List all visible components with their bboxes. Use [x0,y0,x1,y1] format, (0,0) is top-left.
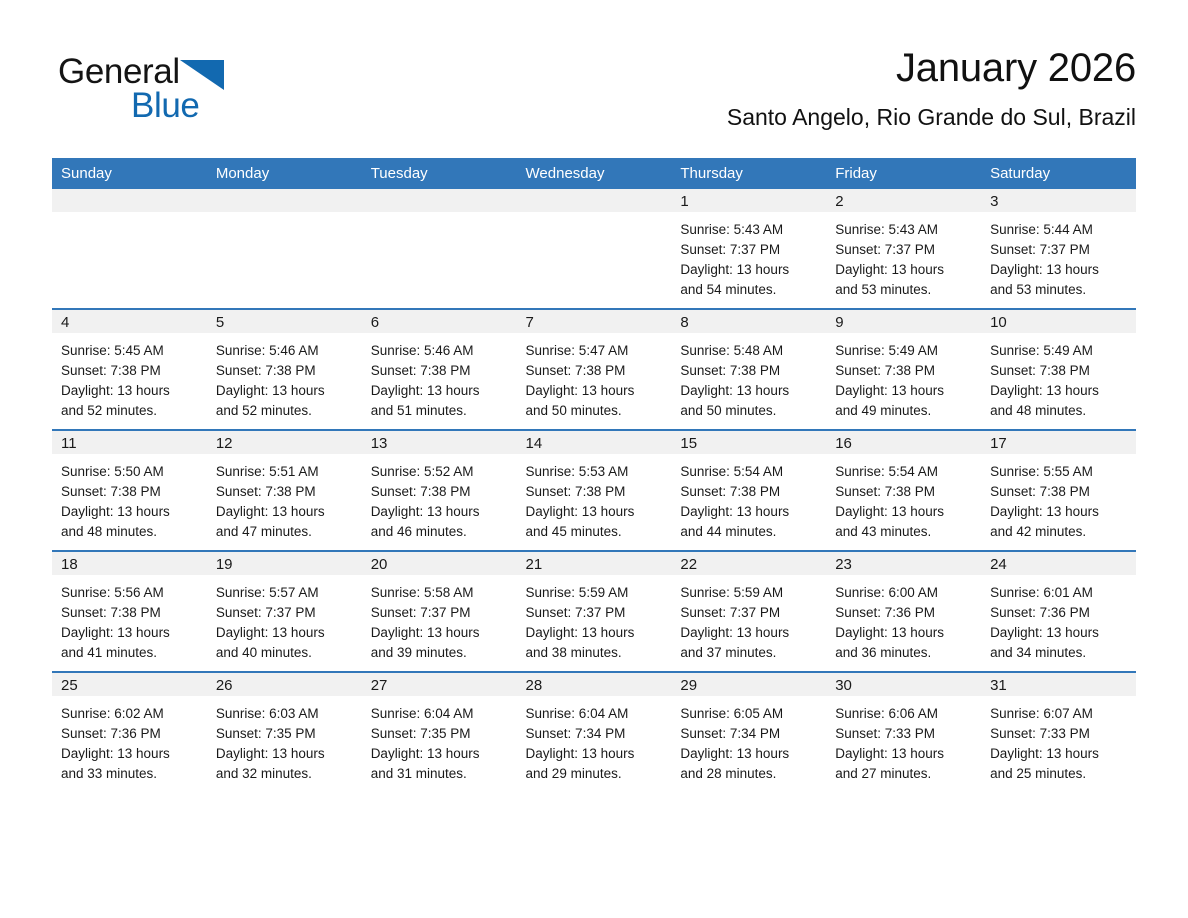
calendar-table: SundayMondayTuesdayWednesdayThursdayFrid… [52,158,1136,792]
daylight-text-line1: Daylight: 13 hours [371,502,511,522]
daylight-text-line2: and 47 minutes. [216,522,356,542]
calendar-day-cell[interactable]: 17Sunrise: 5:55 AMSunset: 7:38 PMDayligh… [981,430,1136,551]
sunrise-text: Sunrise: 6:04 AM [371,704,511,724]
calendar-day-cell[interactable]: 26Sunrise: 6:03 AMSunset: 7:35 PMDayligh… [207,672,362,792]
brand-logo[interactable]: General Blue [58,52,358,136]
sunset-text: Sunset: 7:38 PM [835,482,975,502]
day-details: Sunrise: 5:47 AMSunset: 7:38 PMDaylight:… [517,333,672,421]
sunset-text: Sunset: 7:37 PM [216,603,356,623]
sunset-text: Sunset: 7:36 PM [990,603,1130,623]
day-number: 21 [517,552,672,575]
weekday-header-row: SundayMondayTuesdayWednesdayThursdayFrid… [52,158,1136,189]
weekday-header-tuesday: Tuesday [362,158,517,189]
sunrise-text: Sunrise: 5:51 AM [216,462,356,482]
sunset-text: Sunset: 7:38 PM [371,361,511,381]
calendar-day-cell[interactable]: 16Sunrise: 5:54 AMSunset: 7:38 PMDayligh… [826,430,981,551]
day-number: 30 [826,673,981,696]
calendar-day-cell[interactable]: 27Sunrise: 6:04 AMSunset: 7:35 PMDayligh… [362,672,517,792]
day-number: 15 [671,431,826,454]
calendar-day-cell-empty [362,189,517,309]
sunset-text: Sunset: 7:38 PM [61,482,201,502]
daylight-text-line1: Daylight: 13 hours [680,623,820,643]
sunrise-text: Sunrise: 6:01 AM [990,583,1130,603]
day-details: Sunrise: 6:05 AMSunset: 7:34 PMDaylight:… [671,696,826,784]
daylight-text-line2: and 48 minutes. [61,522,201,542]
day-details: Sunrise: 5:58 AMSunset: 7:37 PMDaylight:… [362,575,517,663]
sunrise-text: Sunrise: 5:54 AM [680,462,820,482]
sunset-text: Sunset: 7:38 PM [990,361,1130,381]
sunset-text: Sunset: 7:35 PM [371,724,511,744]
sunrise-text: Sunrise: 5:53 AM [526,462,666,482]
day-number: 25 [52,673,207,696]
calendar-day-cell[interactable]: 9Sunrise: 5:49 AMSunset: 7:38 PMDaylight… [826,309,981,430]
daylight-text-line2: and 38 minutes. [526,643,666,663]
daylight-text-line2: and 29 minutes. [526,764,666,784]
calendar-day-cell[interactable]: 3Sunrise: 5:44 AMSunset: 7:37 PMDaylight… [981,189,1136,309]
sunrise-text: Sunrise: 5:43 AM [680,220,820,240]
day-details: Sunrise: 6:00 AMSunset: 7:36 PMDaylight:… [826,575,981,663]
calendar-day-cell[interactable]: 31Sunrise: 6:07 AMSunset: 7:33 PMDayligh… [981,672,1136,792]
calendar-day-cell[interactable]: 25Sunrise: 6:02 AMSunset: 7:36 PMDayligh… [52,672,207,792]
sunset-text: Sunset: 7:38 PM [526,482,666,502]
calendar-day-cell[interactable]: 24Sunrise: 6:01 AMSunset: 7:36 PMDayligh… [981,551,1136,672]
day-details: Sunrise: 5:48 AMSunset: 7:38 PMDaylight:… [671,333,826,421]
day-number: 12 [207,431,362,454]
calendar-day-cell[interactable]: 29Sunrise: 6:05 AMSunset: 7:34 PMDayligh… [671,672,826,792]
sunset-text: Sunset: 7:38 PM [216,482,356,502]
daylight-text-line1: Daylight: 13 hours [61,623,201,643]
sunset-text: Sunset: 7:36 PM [61,724,201,744]
daylight-text-line2: and 53 minutes. [990,280,1130,300]
day-number [517,189,672,212]
sunset-text: Sunset: 7:35 PM [216,724,356,744]
day-details: Sunrise: 5:50 AMSunset: 7:38 PMDaylight:… [52,454,207,542]
sunset-text: Sunset: 7:38 PM [216,361,356,381]
brand-row-blue: Blue [131,86,358,126]
daylight-text-line1: Daylight: 13 hours [371,744,511,764]
daylight-text-line2: and 27 minutes. [835,764,975,784]
calendar-day-cell[interactable]: 2Sunrise: 5:43 AMSunset: 7:37 PMDaylight… [826,189,981,309]
sunrise-text: Sunrise: 5:43 AM [835,220,975,240]
daylight-text-line1: Daylight: 13 hours [61,744,201,764]
calendar-body: 1Sunrise: 5:43 AMSunset: 7:37 PMDaylight… [52,189,1136,792]
day-number: 6 [362,310,517,333]
sunrise-text: Sunrise: 6:06 AM [835,704,975,724]
calendar-day-cell[interactable]: 7Sunrise: 5:47 AMSunset: 7:38 PMDaylight… [517,309,672,430]
sunset-text: Sunset: 7:37 PM [835,240,975,260]
sunset-text: Sunset: 7:38 PM [526,361,666,381]
sunset-text: Sunset: 7:37 PM [990,240,1130,260]
daylight-text-line2: and 33 minutes. [61,764,201,784]
daylight-text-line2: and 54 minutes. [680,280,820,300]
daylight-text-line1: Daylight: 13 hours [526,623,666,643]
page-header: General Blue January 2026 Santo Angelo, … [52,42,1136,152]
daylight-text-line1: Daylight: 13 hours [835,260,975,280]
daylight-text-line1: Daylight: 13 hours [990,744,1130,764]
calendar-day-cell[interactable]: 11Sunrise: 5:50 AMSunset: 7:38 PMDayligh… [52,430,207,551]
title-block: January 2026 Santo Angelo, Rio Grande do… [727,42,1136,132]
day-details: Sunrise: 5:59 AMSunset: 7:37 PMDaylight:… [671,575,826,663]
sunrise-text: Sunrise: 5:55 AM [990,462,1130,482]
day-details: Sunrise: 6:04 AMSunset: 7:35 PMDaylight:… [362,696,517,784]
daylight-text-line2: and 39 minutes. [371,643,511,663]
calendar-day-cell[interactable]: 19Sunrise: 5:57 AMSunset: 7:37 PMDayligh… [207,551,362,672]
sunrise-text: Sunrise: 6:07 AM [990,704,1130,724]
calendar-day-cell[interactable]: 13Sunrise: 5:52 AMSunset: 7:38 PMDayligh… [362,430,517,551]
calendar-page: General Blue January 2026 Santo Angelo, … [0,0,1188,918]
weekday-header-thursday: Thursday [671,158,826,189]
calendar-day-cell[interactable]: 5Sunrise: 5:46 AMSunset: 7:38 PMDaylight… [207,309,362,430]
sunrise-text: Sunrise: 6:05 AM [680,704,820,724]
daylight-text-line1: Daylight: 13 hours [216,623,356,643]
sunrise-text: Sunrise: 6:02 AM [61,704,201,724]
daylight-text-line1: Daylight: 13 hours [526,502,666,522]
day-details: Sunrise: 5:55 AMSunset: 7:38 PMDaylight:… [981,454,1136,542]
daylight-text-line1: Daylight: 13 hours [61,381,201,401]
day-number: 31 [981,673,1136,696]
daylight-text-line2: and 50 minutes. [526,401,666,421]
sunrise-text: Sunrise: 5:58 AM [371,583,511,603]
daylight-text-line2: and 48 minutes. [990,401,1130,421]
weekday-header-friday: Friday [826,158,981,189]
day-number: 8 [671,310,826,333]
daylight-text-line2: and 37 minutes. [680,643,820,663]
calendar-day-cell-empty [517,189,672,309]
calendar-week-row: 25Sunrise: 6:02 AMSunset: 7:36 PMDayligh… [52,672,1136,792]
calendar-day-cell[interactable]: 6Sunrise: 5:46 AMSunset: 7:38 PMDaylight… [362,309,517,430]
day-number: 17 [981,431,1136,454]
day-details: Sunrise: 5:43 AMSunset: 7:37 PMDaylight:… [671,212,826,300]
daylight-text-line2: and 52 minutes. [61,401,201,421]
daylight-text-line1: Daylight: 13 hours [371,381,511,401]
sunrise-text: Sunrise: 5:49 AM [990,341,1130,361]
daylight-text-line1: Daylight: 13 hours [990,502,1130,522]
daylight-text-line1: Daylight: 13 hours [835,623,975,643]
daylight-text-line2: and 41 minutes. [61,643,201,663]
sunset-text: Sunset: 7:37 PM [371,603,511,623]
day-details: Sunrise: 6:04 AMSunset: 7:34 PMDaylight:… [517,696,672,784]
daylight-text-line2: and 52 minutes. [216,401,356,421]
sunrise-text: Sunrise: 5:44 AM [990,220,1130,240]
calendar-day-cell[interactable]: 12Sunrise: 5:51 AMSunset: 7:38 PMDayligh… [207,430,362,551]
daylight-text-line2: and 49 minutes. [835,401,975,421]
daylight-text-line1: Daylight: 13 hours [61,502,201,522]
calendar-day-cell[interactable]: 1Sunrise: 5:43 AMSunset: 7:37 PMDaylight… [671,189,826,309]
daylight-text-line2: and 28 minutes. [680,764,820,784]
daylight-text-line2: and 31 minutes. [371,764,511,784]
daylight-text-line1: Daylight: 13 hours [680,260,820,280]
day-details: Sunrise: 5:57 AMSunset: 7:37 PMDaylight:… [207,575,362,663]
day-details: Sunrise: 5:54 AMSunset: 7:38 PMDaylight:… [671,454,826,542]
calendar-day-cell[interactable]: 10Sunrise: 5:49 AMSunset: 7:38 PMDayligh… [981,309,1136,430]
sunrise-text: Sunrise: 5:52 AM [371,462,511,482]
day-details: Sunrise: 5:54 AMSunset: 7:38 PMDaylight:… [826,454,981,542]
daylight-text-line1: Daylight: 13 hours [835,502,975,522]
daylight-text-line2: and 53 minutes. [835,280,975,300]
daylight-text-line1: Daylight: 13 hours [526,744,666,764]
sunrise-text: Sunrise: 5:47 AM [526,341,666,361]
day-number [52,189,207,212]
calendar-day-cell[interactable]: 28Sunrise: 6:04 AMSunset: 7:34 PMDayligh… [517,672,672,792]
calendar-grid: SundayMondayTuesdayWednesdayThursdayFrid… [52,158,1136,792]
daylight-text-line2: and 32 minutes. [216,764,356,784]
sunset-text: Sunset: 7:38 PM [835,361,975,381]
day-number: 26 [207,673,362,696]
weekday-header-saturday: Saturday [981,158,1136,189]
page-title: January 2026 [727,42,1136,94]
day-number [207,189,362,212]
daylight-text-line2: and 44 minutes. [680,522,820,542]
daylight-text-line1: Daylight: 13 hours [680,381,820,401]
day-details: Sunrise: 5:56 AMSunset: 7:38 PMDaylight:… [52,575,207,663]
daylight-text-line1: Daylight: 13 hours [990,381,1130,401]
sunrise-text: Sunrise: 5:56 AM [61,583,201,603]
sunrise-text: Sunrise: 6:00 AM [835,583,975,603]
calendar-day-cell[interactable]: 14Sunrise: 5:53 AMSunset: 7:38 PMDayligh… [517,430,672,551]
calendar-header-row: SundayMondayTuesdayWednesdayThursdayFrid… [52,158,1136,189]
day-number: 29 [671,673,826,696]
day-number: 5 [207,310,362,333]
day-details: Sunrise: 5:46 AMSunset: 7:38 PMDaylight:… [362,333,517,421]
day-number: 27 [362,673,517,696]
sunrise-text: Sunrise: 5:59 AM [680,583,820,603]
day-details: Sunrise: 5:49 AMSunset: 7:38 PMDaylight:… [981,333,1136,421]
day-details: Sunrise: 6:02 AMSunset: 7:36 PMDaylight:… [52,696,207,784]
day-details: Sunrise: 5:59 AMSunset: 7:37 PMDaylight:… [517,575,672,663]
sunset-text: Sunset: 7:37 PM [680,240,820,260]
calendar-week-row: 4Sunrise: 5:45 AMSunset: 7:38 PMDaylight… [52,309,1136,430]
daylight-text-line1: Daylight: 13 hours [835,381,975,401]
daylight-text-line1: Daylight: 13 hours [216,502,356,522]
daylight-text-line2: and 42 minutes. [990,522,1130,542]
day-details: Sunrise: 6:01 AMSunset: 7:36 PMDaylight:… [981,575,1136,663]
day-details: Sunrise: 5:43 AMSunset: 7:37 PMDaylight:… [826,212,981,300]
calendar-week-row: 1Sunrise: 5:43 AMSunset: 7:37 PMDaylight… [52,189,1136,309]
sunrise-text: Sunrise: 5:45 AM [61,341,201,361]
calendar-day-cell[interactable]: 18Sunrise: 5:56 AMSunset: 7:38 PMDayligh… [52,551,207,672]
daylight-text-line2: and 51 minutes. [371,401,511,421]
sunrise-text: Sunrise: 5:49 AM [835,341,975,361]
brand-name-general: General [58,52,180,92]
sunrise-text: Sunrise: 5:57 AM [216,583,356,603]
daylight-text-line1: Daylight: 13 hours [216,744,356,764]
sunset-text: Sunset: 7:38 PM [61,361,201,381]
daylight-text-line2: and 40 minutes. [216,643,356,663]
daylight-text-line1: Daylight: 13 hours [990,623,1130,643]
daylight-text-line1: Daylight: 13 hours [216,381,356,401]
day-number: 28 [517,673,672,696]
day-details: Sunrise: 6:07 AMSunset: 7:33 PMDaylight:… [981,696,1136,784]
daylight-text-line1: Daylight: 13 hours [526,381,666,401]
calendar-day-cell-empty [207,189,362,309]
day-number: 19 [207,552,362,575]
sunset-text: Sunset: 7:38 PM [680,361,820,381]
sunset-text: Sunset: 7:36 PM [835,603,975,623]
day-details: Sunrise: 5:45 AMSunset: 7:38 PMDaylight:… [52,333,207,421]
triangle-logo-icon [180,60,224,90]
day-number: 9 [826,310,981,333]
sunrise-text: Sunrise: 5:59 AM [526,583,666,603]
day-number: 13 [362,431,517,454]
day-number: 23 [826,552,981,575]
sunrise-text: Sunrise: 5:54 AM [835,462,975,482]
day-details: Sunrise: 6:06 AMSunset: 7:33 PMDaylight:… [826,696,981,784]
calendar-day-cell[interactable]: 15Sunrise: 5:54 AMSunset: 7:38 PMDayligh… [671,430,826,551]
calendar-day-cell[interactable]: 4Sunrise: 5:45 AMSunset: 7:38 PMDaylight… [52,309,207,430]
day-details: Sunrise: 5:46 AMSunset: 7:38 PMDaylight:… [207,333,362,421]
calendar-day-cell-empty [52,189,207,309]
daylight-text-line2: and 46 minutes. [371,522,511,542]
sunset-text: Sunset: 7:33 PM [990,724,1130,744]
day-number: 18 [52,552,207,575]
sunrise-text: Sunrise: 6:03 AM [216,704,356,724]
day-number: 20 [362,552,517,575]
day-number: 10 [981,310,1136,333]
daylight-text-line2: and 36 minutes. [835,643,975,663]
day-number: 14 [517,431,672,454]
day-number: 11 [52,431,207,454]
sunrise-text: Sunrise: 5:46 AM [371,341,511,361]
day-number: 24 [981,552,1136,575]
sunset-text: Sunset: 7:34 PM [526,724,666,744]
sunset-text: Sunset: 7:37 PM [680,603,820,623]
day-details: Sunrise: 5:49 AMSunset: 7:38 PMDaylight:… [826,333,981,421]
daylight-text-line2: and 34 minutes. [990,643,1130,663]
sunset-text: Sunset: 7:38 PM [61,603,201,623]
sunrise-text: Sunrise: 5:48 AM [680,341,820,361]
sunrise-text: Sunrise: 6:04 AM [526,704,666,724]
weekday-header-monday: Monday [207,158,362,189]
day-number: 2 [826,189,981,212]
day-number: 1 [671,189,826,212]
brand-row-general: General [58,52,358,92]
day-details: Sunrise: 6:03 AMSunset: 7:35 PMDaylight:… [207,696,362,784]
calendar-day-cell[interactable]: 20Sunrise: 5:58 AMSunset: 7:37 PMDayligh… [362,551,517,672]
day-number: 3 [981,189,1136,212]
daylight-text-line2: and 25 minutes. [990,764,1130,784]
daylight-text-line1: Daylight: 13 hours [371,623,511,643]
sunset-text: Sunset: 7:38 PM [371,482,511,502]
daylight-text-line2: and 50 minutes. [680,401,820,421]
day-number [362,189,517,212]
calendar-day-cell[interactable]: 8Sunrise: 5:48 AMSunset: 7:38 PMDaylight… [671,309,826,430]
sunset-text: Sunset: 7:38 PM [680,482,820,502]
sunset-text: Sunset: 7:34 PM [680,724,820,744]
calendar-day-cell[interactable]: 23Sunrise: 6:00 AMSunset: 7:36 PMDayligh… [826,551,981,672]
day-number: 16 [826,431,981,454]
sunset-text: Sunset: 7:37 PM [526,603,666,623]
day-number: 7 [517,310,672,333]
calendar-week-row: 18Sunrise: 5:56 AMSunset: 7:38 PMDayligh… [52,551,1136,672]
sunrise-text: Sunrise: 5:46 AM [216,341,356,361]
weekday-header-sunday: Sunday [52,158,207,189]
day-number: 4 [52,310,207,333]
daylight-text-line2: and 45 minutes. [526,522,666,542]
day-number: 22 [671,552,826,575]
sunrise-text: Sunrise: 5:50 AM [61,462,201,482]
daylight-text-line1: Daylight: 13 hours [835,744,975,764]
calendar-week-row: 11Sunrise: 5:50 AMSunset: 7:38 PMDayligh… [52,430,1136,551]
daylight-text-line1: Daylight: 13 hours [680,744,820,764]
day-details: Sunrise: 5:52 AMSunset: 7:38 PMDaylight:… [362,454,517,542]
daylight-text-line1: Daylight: 13 hours [680,502,820,522]
daylight-text-line2: and 43 minutes. [835,522,975,542]
day-details: Sunrise: 5:51 AMSunset: 7:38 PMDaylight:… [207,454,362,542]
sunset-text: Sunset: 7:33 PM [835,724,975,744]
sunset-text: Sunset: 7:38 PM [990,482,1130,502]
day-details: Sunrise: 5:53 AMSunset: 7:38 PMDaylight:… [517,454,672,542]
day-details: Sunrise: 5:44 AMSunset: 7:37 PMDaylight:… [981,212,1136,300]
daylight-text-line1: Daylight: 13 hours [990,260,1130,280]
calendar-day-cell[interactable]: 30Sunrise: 6:06 AMSunset: 7:33 PMDayligh… [826,672,981,792]
calendar-day-cell[interactable]: 22Sunrise: 5:59 AMSunset: 7:37 PMDayligh… [671,551,826,672]
page-subtitle: Santo Angelo, Rio Grande do Sul, Brazil [727,102,1136,132]
calendar-day-cell[interactable]: 21Sunrise: 5:59 AMSunset: 7:37 PMDayligh… [517,551,672,672]
weekday-header-wednesday: Wednesday [517,158,672,189]
